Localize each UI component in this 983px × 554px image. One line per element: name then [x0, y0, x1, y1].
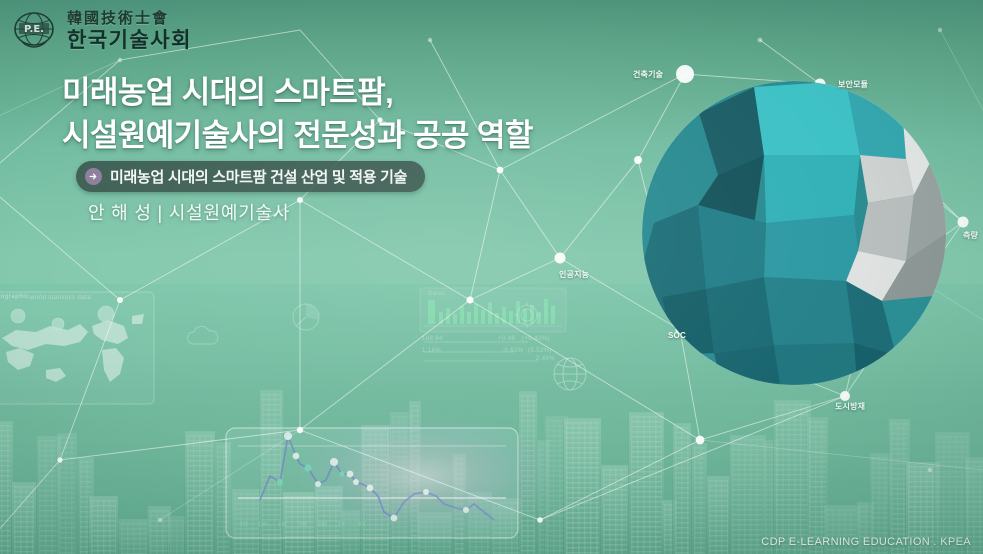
- logo-hanja-name: 韓國技術士會: [67, 11, 192, 26]
- page-title: 미래농업 시대의 스마트팜, 시설원예기술사의 전문성과 공공 역할: [62, 72, 533, 158]
- building: [360, 425, 391, 554]
- building: [56, 433, 77, 554]
- building: [452, 454, 466, 554]
- building: [628, 412, 664, 554]
- logo-korean-name: 한국기술사회: [67, 30, 192, 51]
- building: [214, 442, 231, 554]
- building: [184, 431, 215, 554]
- building: [416, 512, 453, 554]
- building: [231, 489, 262, 554]
- building: [706, 476, 730, 554]
- building: [672, 423, 691, 554]
- building: [11, 482, 36, 554]
- building: [518, 391, 537, 554]
- pe-globe-emblem-icon: P.E.: [10, 8, 58, 54]
- building: [691, 443, 707, 554]
- presenter-name: 안 해 성 | 시설원예기술사: [88, 199, 290, 225]
- low-poly-sphere-graphic: [614, 55, 974, 410]
- organization-logo: P.E. 韓國技術士會 한국기술사회: [10, 8, 192, 54]
- building: [340, 510, 362, 554]
- building: [466, 492, 492, 554]
- building: [563, 418, 601, 554]
- network-label-urban-disaster-prevention: 도시방재: [835, 401, 865, 412]
- footer-credit: CDP E-LEARNING EDUCATION . KPEA: [761, 536, 971, 548]
- building: [88, 496, 118, 554]
- arrow-right-circle-icon: [85, 168, 102, 185]
- subtitle-pill: 미래농업 시대의 스마트팜 건설 산업 및 적용 기술: [76, 161, 425, 192]
- building: [282, 492, 317, 554]
- building: [118, 519, 150, 554]
- network-label-artificial-intelligence: 인공지능: [559, 269, 589, 280]
- building: [314, 486, 343, 554]
- network-label-security-module: 보안모듈: [838, 79, 868, 90]
- svg-text:P.E.: P.E.: [24, 24, 44, 35]
- network-label-soc: SOC: [668, 331, 686, 340]
- building: [600, 465, 629, 554]
- subtitle-text: 미래농업 시대의 스마트팜 건설 산업 및 적용 기술: [110, 166, 407, 187]
- network-label-surveying: 측량: [963, 230, 978, 241]
- presentation-slide: Infographic world statistics data Sales: [0, 0, 983, 554]
- building: [259, 390, 283, 554]
- network-label-construction-tech: 건축기술: [633, 69, 663, 80]
